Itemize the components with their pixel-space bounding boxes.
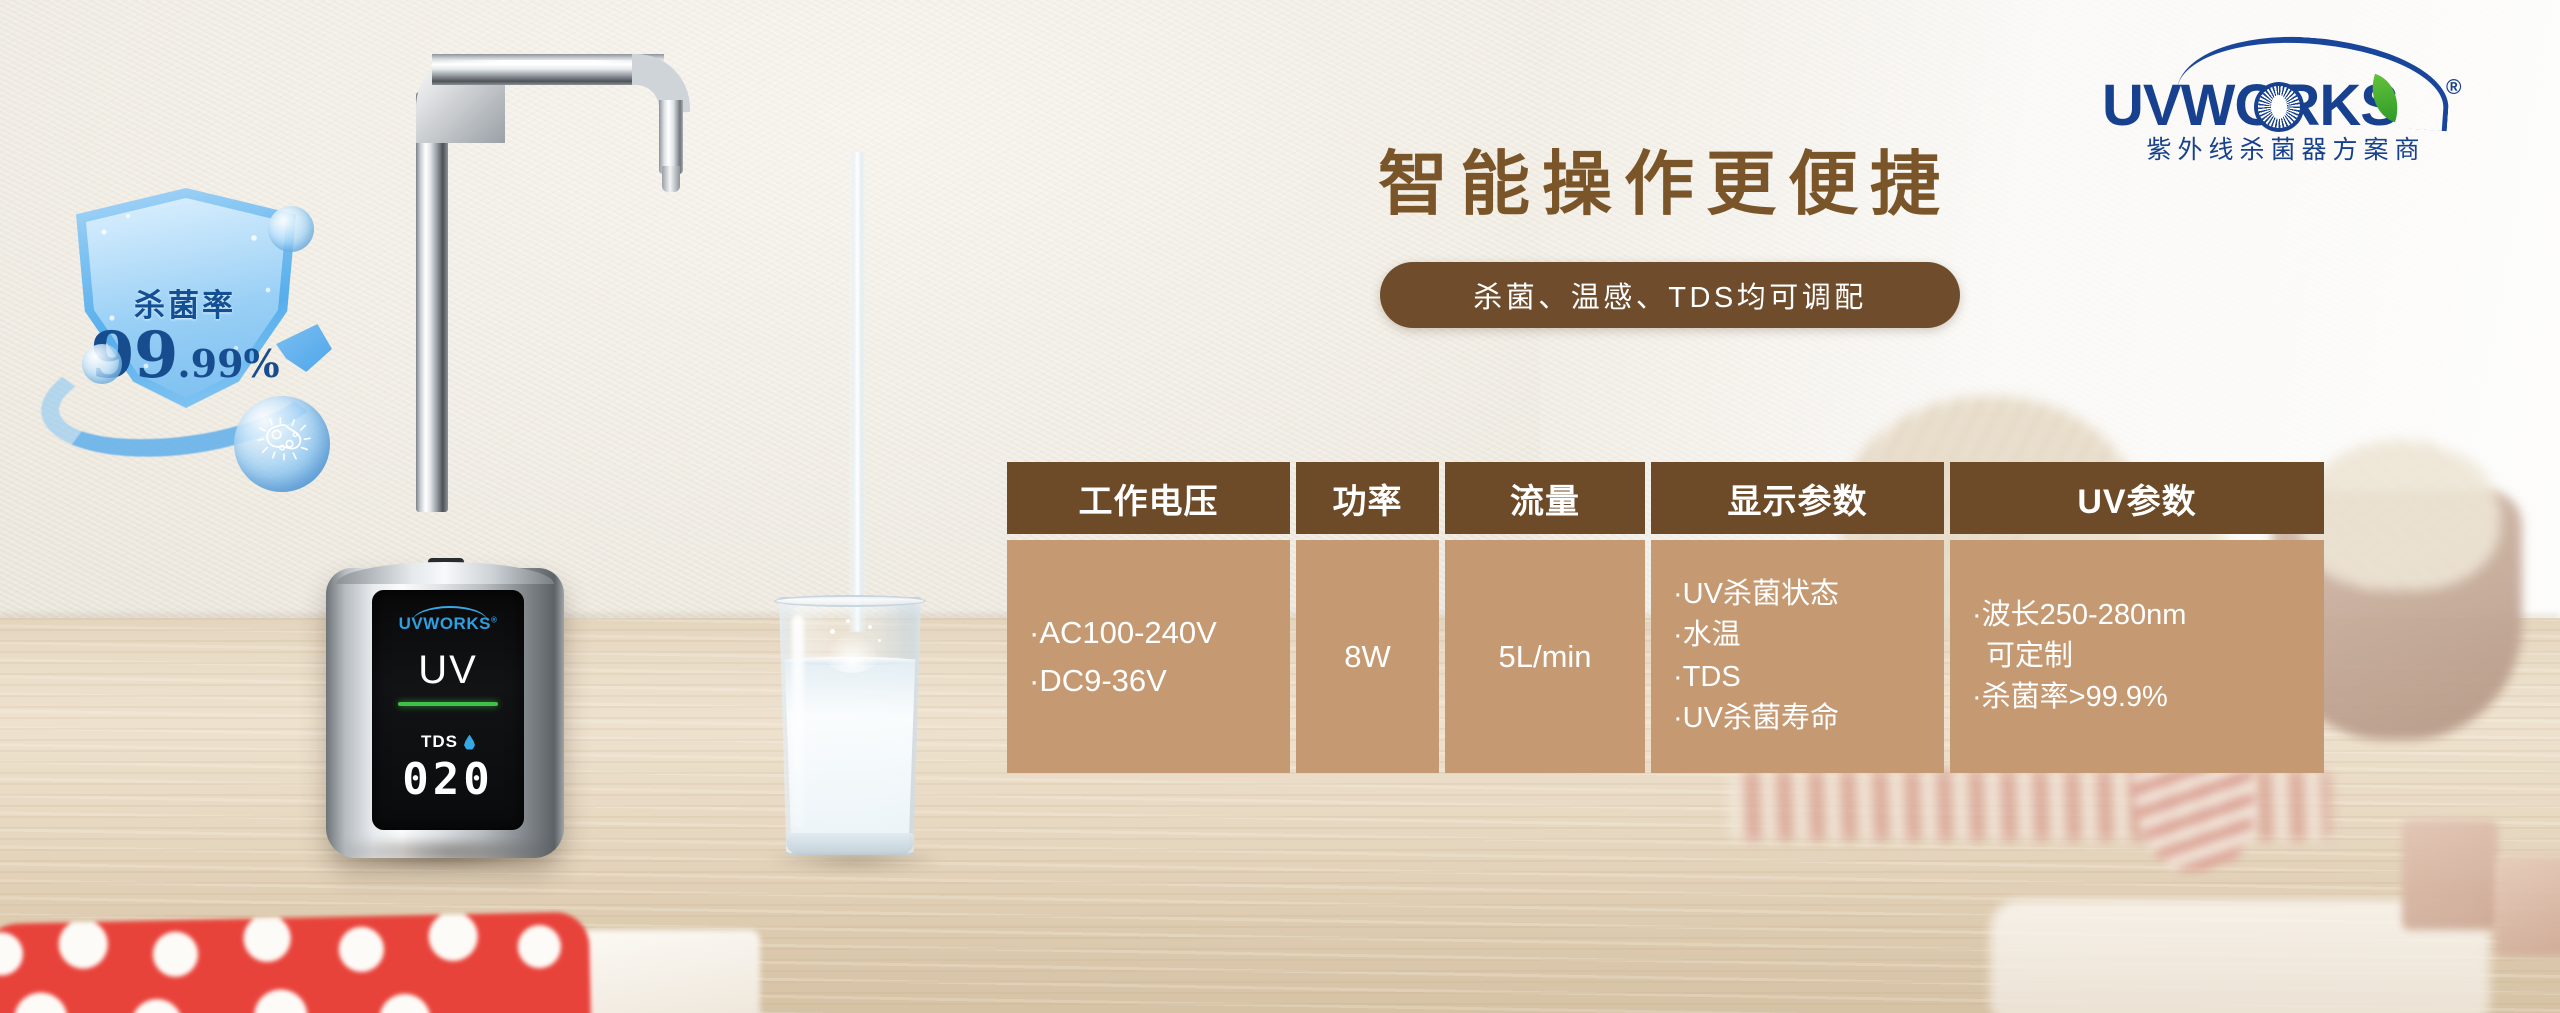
splash-droplet — [830, 629, 835, 634]
bubble-icon — [268, 206, 314, 252]
germ-icon — [256, 416, 312, 468]
screen-status-bar — [398, 702, 498, 706]
splash-droplet — [846, 619, 850, 623]
glass-rim — [774, 595, 926, 607]
logo-tagline: 紫外线杀菌器方案商 — [2096, 130, 2476, 166]
glass-highlight — [792, 615, 804, 827]
uv-device: UVWORKS® UV TDS 020 — [326, 568, 564, 864]
badge-value-decimal: .99% — [177, 341, 279, 386]
spec-line: ·AC100-240V — [1029, 609, 1268, 656]
spec-header-power: 功率 — [1296, 462, 1439, 534]
product-banner: UVWORKS® UV TDS 020 杀菌率 — [0, 0, 2560, 1013]
headline-title: 智能操作更便捷 — [1378, 128, 1952, 229]
badge-value: 99.99% — [30, 318, 340, 393]
spec-cell-voltage: ·AC100-240V ·DC9-36V — [1007, 540, 1290, 773]
spec-line: 5L/min — [1498, 633, 1591, 680]
logo-wordmark: UVWORKS — [2102, 72, 2398, 139]
headline-subtitle-text: 杀菌、温感、TDS均可调配 — [1473, 274, 1867, 316]
splash-droplet — [868, 625, 872, 629]
spec-line: 8W — [1344, 633, 1391, 680]
headline-subtitle-pill: 杀菌、温感、TDS均可调配 — [1380, 262, 1960, 328]
spec-cell-uv: ·波长250-280nm 可定制 ·杀菌率>99.9% — [1950, 540, 2324, 773]
spec-line: ·TDS — [1673, 657, 1922, 698]
logo-sunburst-icon — [2258, 86, 2300, 128]
wood-block-prop — [2496, 856, 2560, 956]
faucet-highlight — [438, 60, 658, 65]
wood-block-prop — [2402, 820, 2498, 930]
spec-line: ·DC9-36V — [1029, 657, 1268, 704]
splash-droplet — [878, 639, 881, 642]
water-drop-icon — [464, 735, 475, 750]
device-screen[interactable]: UVWORKS® UV TDS 020 — [372, 590, 524, 830]
spec-line: ·杀菌率>99.9% — [1972, 677, 2302, 718]
water-glass — [770, 597, 930, 867]
screen-tds-label: TDS — [421, 732, 458, 752]
water-stream — [849, 152, 866, 632]
sterilization-rate-badge: 杀菌率 99.99% — [30, 128, 340, 458]
spec-header-voltage: 工作电压 — [1007, 462, 1290, 534]
spec-table: 工作电压 功率 流量 显示参数 UV参数 ·AC100-240V ·DC9-36… — [1007, 462, 2300, 767]
device-shadow — [332, 840, 558, 870]
spec-header-flow: 流量 — [1445, 462, 1645, 534]
logo-registered-mark: ® — [2446, 76, 2461, 100]
spec-line: 可定制 — [1972, 636, 2302, 677]
bubble-with-germ — [234, 396, 330, 492]
screen-tds-value: 020 — [372, 758, 524, 802]
bubble-icon — [82, 344, 122, 384]
spec-cell-flow: 5L/min — [1445, 540, 1645, 773]
spec-line: ·水温 — [1673, 615, 1922, 656]
polka-dot-cloth — [0, 912, 591, 1013]
screen-tds-row: TDS — [372, 732, 524, 752]
spec-cell-power: 8W — [1296, 540, 1439, 773]
faucet-spout-column — [659, 100, 683, 174]
spec-cell-display: ·UV杀菌状态 ·水温 ·TDS ·UV杀菌寿命 — [1651, 540, 1944, 773]
faucet-left-column — [416, 92, 448, 512]
glass-base — [786, 833, 914, 855]
spec-line: ·波长250-280nm — [1972, 595, 2302, 636]
screen-mode-label: UV — [372, 648, 524, 693]
water-splash — [824, 633, 880, 673]
spec-line: ·UV杀菌寿命 — [1673, 698, 1922, 739]
brand-logo: UVWORKS ® 紫外线杀菌器方案商 — [2086, 34, 2486, 159]
basket-yarn-prop — [2300, 440, 2500, 590]
screen-brand-logo: UVWORKS® — [372, 614, 524, 634]
spec-line: ·UV杀菌状态 — [1673, 574, 1922, 615]
spec-header-uv: UV参数 — [1950, 462, 2324, 534]
faucet-crossbar — [432, 54, 664, 85]
spec-header-display: 显示参数 — [1651, 462, 1944, 534]
faucet-spout-tip — [662, 166, 680, 192]
